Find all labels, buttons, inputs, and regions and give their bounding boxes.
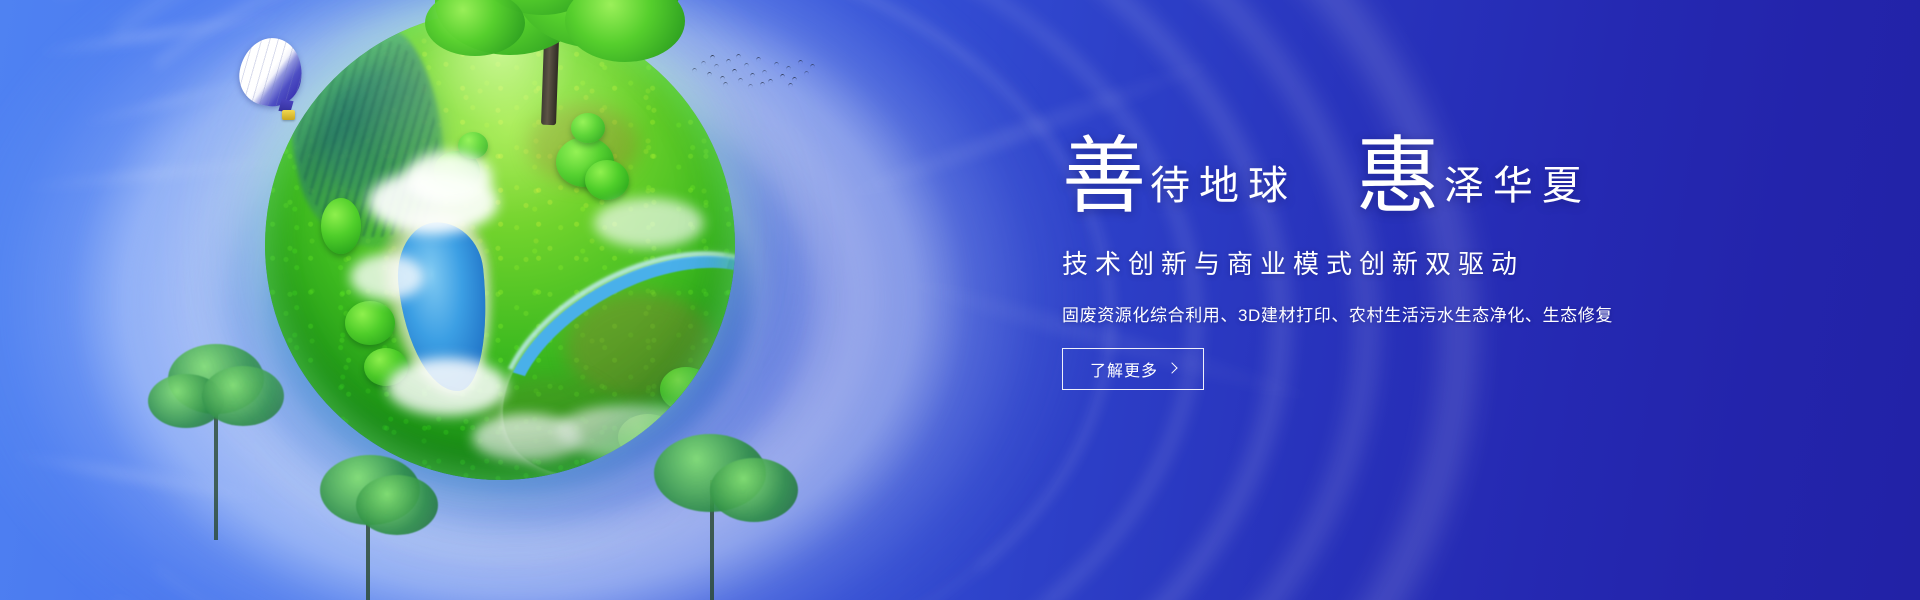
background-tree-icon	[640, 430, 800, 600]
bird-icon	[707, 72, 713, 77]
tree-canopy	[565, 0, 685, 62]
bird-icon	[748, 84, 754, 89]
page-description: 固废资源化综合利用、3D建材打印、农村生活污水生态净化、生态修复	[1062, 301, 1782, 326]
bird-icon	[692, 68, 698, 73]
bird-icon	[804, 71, 810, 76]
bird-icon	[792, 77, 798, 82]
page-subtitle: 技术创新与商业模式创新双驱动	[1062, 244, 1782, 281]
headline-group-2: 惠泽华夏	[1356, 136, 1587, 220]
bird-icon	[768, 79, 774, 84]
balloon-basket	[282, 110, 295, 120]
hero-banner: 善待地球 惠泽华夏 技术创新与商业模式创新双驱动 固废资源化综合利用、3D建材打…	[0, 0, 1920, 600]
bird-icon	[736, 54, 742, 59]
bird-icon	[720, 76, 726, 81]
bird-icon	[774, 62, 780, 67]
bird-icon	[738, 78, 744, 83]
bird-icon	[786, 66, 792, 71]
bird-icon	[726, 59, 732, 64]
bird-icon	[732, 69, 738, 74]
headline-big-char-2: 惠	[1356, 131, 1440, 224]
hot-air-balloon-icon	[240, 38, 310, 124]
learn-more-label: 了解更多	[1090, 357, 1158, 381]
page-title: 善待地球 惠泽华夏	[1062, 136, 1782, 232]
headline-big-char-1: 善	[1062, 131, 1146, 224]
birds-flock-icon	[690, 52, 820, 92]
bird-icon	[744, 63, 750, 68]
headline-group-1: 善待地球	[1062, 136, 1293, 220]
hero-copy: 善待地球 惠泽华夏 技术创新与商业模式创新双驱动 固废资源化综合利用、3D建材打…	[1062, 136, 1782, 390]
big-tree-icon	[395, 0, 695, 150]
learn-more-button[interactable]: 了解更多	[1062, 348, 1204, 390]
headline-small-chars-1: 待地球	[1150, 163, 1297, 208]
chevron-right-icon	[1166, 362, 1177, 373]
bird-icon	[780, 74, 786, 79]
bird-icon	[750, 73, 756, 78]
bird-icon	[762, 70, 768, 75]
bird-icon	[756, 57, 762, 62]
bird-icon	[810, 64, 816, 69]
bird-icon	[701, 61, 707, 66]
headline-small-chars-2: 泽华夏	[1444, 163, 1591, 208]
background-tree-icon	[300, 455, 440, 600]
bird-icon	[714, 64, 720, 69]
balloon-seams	[235, 33, 308, 111]
bird-icon	[710, 55, 716, 60]
bird-icon	[788, 83, 794, 88]
bird-icon	[723, 82, 729, 87]
bird-icon	[760, 82, 766, 87]
bird-icon	[798, 60, 804, 65]
